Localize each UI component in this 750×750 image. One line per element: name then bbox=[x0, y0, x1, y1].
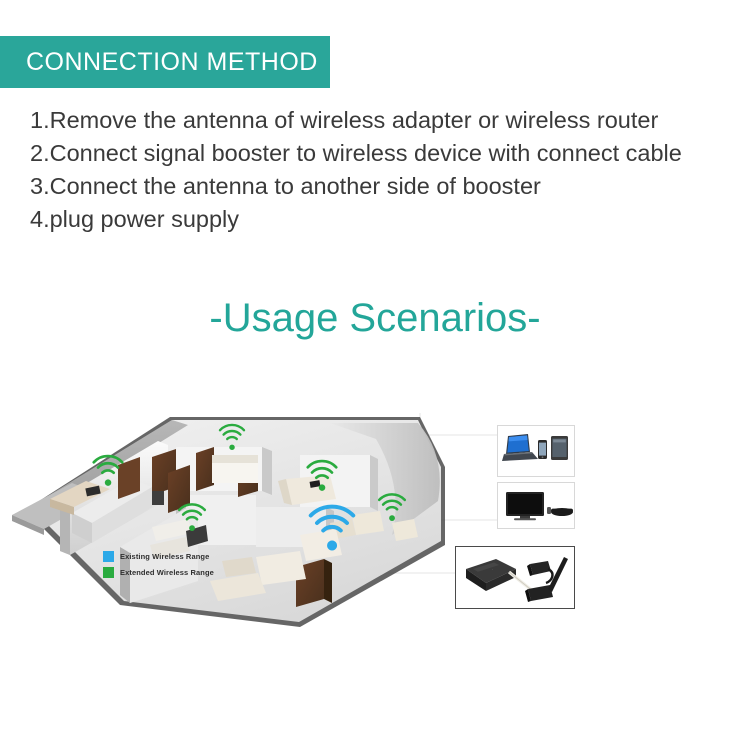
booster-illustration: . bbox=[456, 547, 574, 608]
signal-booster-antenna-icon bbox=[525, 557, 568, 602]
wireless-range-legend: Existing Wireless Range Extended Wireles… bbox=[103, 551, 214, 583]
page-title: CONNECTION METHOD bbox=[0, 48, 318, 77]
legend-item-existing: Existing Wireless Range bbox=[103, 551, 214, 562]
instruction-item-2: 2.Connect signal booster to wireless dev… bbox=[30, 137, 746, 170]
instruction-list: 1.Remove the antenna of wireless adapter… bbox=[30, 104, 746, 236]
instruction-item-4: 4.plug power supply bbox=[30, 203, 746, 236]
laptop-icon bbox=[502, 434, 538, 461]
tablet-icon bbox=[551, 436, 568, 460]
television-icon bbox=[506, 492, 544, 520]
wireless-router-icon: . bbox=[466, 559, 516, 591]
legend-label-existing: Existing Wireless Range bbox=[120, 552, 209, 562]
computers-illustration bbox=[498, 426, 574, 476]
device-box-tv bbox=[497, 482, 575, 529]
legend-label-extended: Extended Wireless Range bbox=[120, 568, 214, 578]
floorplan-illustration-svg bbox=[0, 395, 750, 655]
device-box-computers bbox=[497, 425, 575, 477]
legend-item-extended: Extended Wireless Range bbox=[103, 567, 214, 578]
instruction-item-3: 3.Connect the antenna to another side of… bbox=[30, 170, 746, 203]
header-banner: CONNECTION METHOD bbox=[0, 36, 330, 88]
set-top-box-icon bbox=[547, 507, 573, 516]
tv-illustration bbox=[498, 483, 574, 528]
usage-scenario-illustration bbox=[0, 395, 750, 655]
svg-text:.: . bbox=[492, 566, 493, 571]
smartphone-icon bbox=[538, 440, 547, 459]
instruction-item-1: 1.Remove the antenna of wireless adapter… bbox=[30, 104, 746, 137]
green-square-swatch bbox=[103, 567, 114, 578]
usage-scenarios-heading: -Usage Scenarios- bbox=[0, 296, 750, 341]
device-box-booster: . bbox=[455, 546, 575, 609]
blue-square-swatch bbox=[103, 551, 114, 562]
